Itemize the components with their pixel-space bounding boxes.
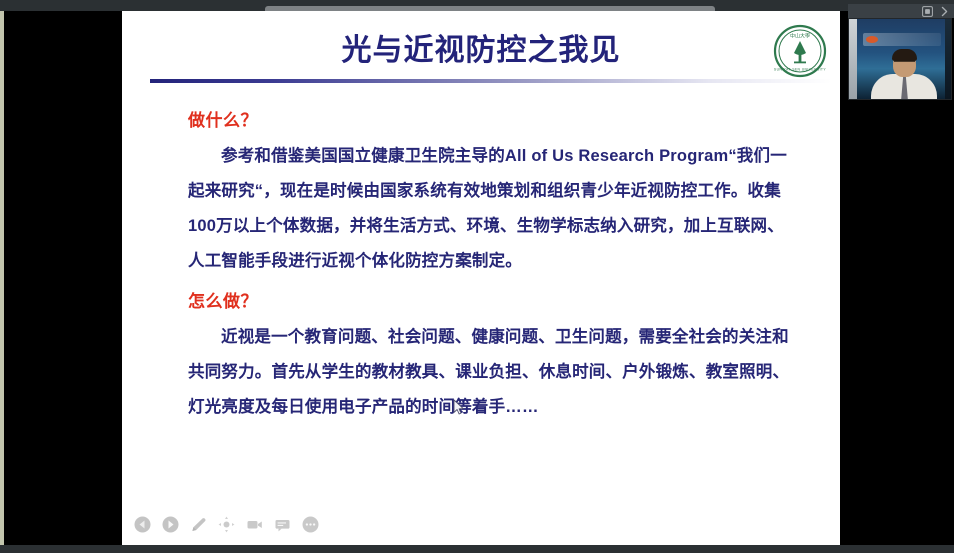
video-camera-icon[interactable]: [246, 516, 263, 533]
title-underline-rule: [150, 79, 832, 83]
laser-pointer-icon[interactable]: [218, 516, 235, 533]
video-thumbnail-controls[interactable]: [848, 4, 954, 18]
chat-bubble-icon[interactable]: [274, 516, 291, 533]
next-slide-icon[interactable]: [162, 516, 179, 533]
svg-text:SUN YAT-SEN UNIVERSITY: SUN YAT-SEN UNIVERSITY: [774, 68, 826, 72]
svg-text:中山大學: 中山大學: [790, 33, 810, 40]
slide-title: 光与近视防控之我见: [122, 29, 840, 73]
presenter-hair: [892, 49, 917, 61]
presentation-slide: 光与近视防控之我见 中山大學 SUN YAT-SEN UNIVERSITY 做什…: [122, 11, 840, 545]
presenter-glasses: [894, 61, 915, 66]
video-left-wall: [849, 19, 857, 99]
presenter-toolbar[interactable]: [134, 516, 319, 533]
previous-slide-icon[interactable]: [134, 516, 151, 533]
section-paragraph-what-to-do: 参考和借鉴美国国立健康卫生院主导的All of Us Research Prog…: [188, 139, 796, 279]
section-gap: [188, 279, 796, 287]
window-top-bar: [0, 0, 954, 11]
presenter-video-thumbnail[interactable]: [848, 18, 952, 100]
collapsed-meeting-toolbar[interactable]: [265, 6, 715, 11]
video-right-wall: [945, 19, 951, 99]
section-paragraph-how-to-do: 近视是一个教育问题、社会问题、健康问题、卫生问题，需要全社会的关注和共同努力。首…: [188, 320, 796, 425]
section-heading-what-to-do: 做什么？: [188, 106, 796, 136]
pen-annotate-icon[interactable]: [190, 516, 207, 533]
section-heading-how-to-do: 怎么做？: [188, 287, 796, 317]
window-bottom-bar: [0, 545, 954, 553]
more-options-icon[interactable]: [302, 516, 319, 533]
banner-logo-mark: [866, 36, 878, 43]
slide-body: 做什么？ 参考和借鉴美国国立健康卫生院主导的All of Us Research…: [188, 106, 796, 425]
sun-yat-sen-university-seal-logo: 中山大學 SUN YAT-SEN UNIVERSITY: [772, 23, 828, 79]
screen-share-viewer: 光与近视防控之我见 中山大學 SUN YAT-SEN UNIVERSITY 做什…: [0, 0, 954, 553]
maximize-window-icon[interactable]: [922, 6, 933, 17]
expand-arrow-icon[interactable]: [939, 6, 950, 17]
video-backdrop-banner: [863, 33, 941, 46]
window-left-edge: [0, 11, 4, 545]
